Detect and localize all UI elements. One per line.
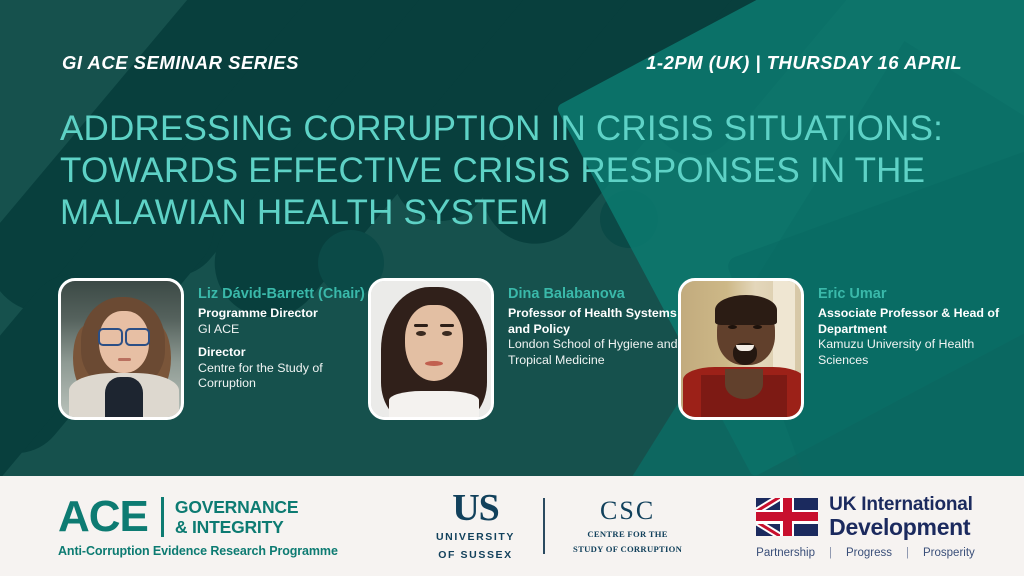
glasses-icon — [98, 328, 150, 342]
footer-logo-bar: ACE GOVERNANCE & INTEGRITY Anti-Corrupti… — [0, 476, 1024, 576]
speaker-org-1: London School of Hygiene and Tropical Me… — [508, 337, 678, 368]
csc-name-line-2: STUDY OF CORRUPTION — [573, 544, 682, 555]
ukid-tag-prosperity: Prosperity — [923, 547, 975, 559]
speaker-photo-eric-umar — [678, 278, 804, 420]
csc-wordmark: CSC — [573, 497, 682, 525]
seminar-poster: GI ACE SEMINAR SERIES 1-2PM (UK) | THURS… — [0, 0, 1024, 576]
ace-divider — [161, 497, 164, 537]
ukid-tagline: Partnership | Progress | Prosperity — [756, 547, 975, 559]
union-jack-flag-icon — [756, 498, 818, 536]
speaker-details: Liz Dávid-Barrett (Chair) Programme Dire… — [198, 278, 368, 392]
speaker-photo-dina-balabanova — [368, 278, 494, 420]
title-line-2: TOWARDS EFFECTIVE CRISIS RESPONSES IN TH… — [60, 150, 970, 192]
logo-divider — [543, 498, 545, 554]
sussex-name-line-1: UNIVERSITY — [436, 531, 515, 544]
title-line-1: ADDRESSING CORRUPTION IN CRISIS SITUATIO… — [60, 108, 970, 150]
speaker-role-1: Professor of Health Systems and Policy — [508, 306, 678, 337]
ukid-line-1: UK International — [829, 494, 973, 515]
ukid-tag-separator-1: | — [829, 547, 832, 559]
speaker-details: Dina Balabanova Professor of Health Syst… — [508, 278, 678, 368]
csc-logo: CSC CENTRE FOR THE STUDY OF CORRUPTION — [573, 497, 682, 555]
uk-international-development-logo: UK International Development Partnership… — [756, 494, 975, 559]
ukid-tag-separator-2: | — [906, 547, 909, 559]
speaker-role-2: Director — [198, 345, 368, 361]
page-title: ADDRESSING CORRUPTION IN CRISIS SITUATIO… — [60, 108, 970, 234]
ukid-line-2: Development — [829, 515, 973, 540]
ace-sub-line-2: & INTEGRITY — [175, 517, 298, 537]
speaker-details: Eric Umar Associate Professor & Head of … — [818, 278, 1008, 368]
datetime-label: 1-2PM (UK) | THURSDAY 16 APRIL — [646, 52, 962, 74]
speaker-photo-liz-david-barrett — [58, 278, 184, 420]
speaker-list: Liz Dávid-Barrett (Chair) Programme Dire… — [58, 278, 1008, 420]
ace-sub-line-1: GOVERNANCE — [175, 497, 298, 517]
speaker-name: Liz Dávid-Barrett (Chair) — [198, 286, 368, 303]
sussex-wordmark: US — [436, 490, 515, 526]
speaker-role-1: Programme Director — [198, 306, 368, 322]
ukid-tag-partnership: Partnership — [756, 547, 815, 559]
speaker-name: Eric Umar — [818, 286, 1008, 303]
speaker-card: Eric Umar Associate Professor & Head of … — [678, 278, 1008, 420]
speaker-org-1: Kamuzu University of Health Sciences — [818, 337, 1008, 368]
speaker-org-1: GI ACE — [198, 322, 368, 338]
ace-logo: ACE GOVERNANCE & INTEGRITY Anti-Corrupti… — [58, 495, 358, 558]
speaker-card: Dina Balabanova Professor of Health Syst… — [368, 278, 678, 420]
university-of-sussex-logo: US UNIVERSITY OF SUSSEX — [436, 490, 515, 562]
speaker-org-2: Centre for the Study of Corruption — [198, 361, 368, 392]
ace-wordmark: ACE — [58, 495, 148, 539]
speaker-role-1: Associate Professor & Head of Department — [818, 306, 1008, 337]
series-label: GI ACE SEMINAR SERIES — [62, 52, 299, 74]
ukid-tag-progress: Progress — [846, 547, 892, 559]
speaker-name: Dina Balabanova — [508, 286, 678, 303]
sussex-csc-logos: US UNIVERSITY OF SUSSEX CSC CENTRE FOR T… — [436, 490, 682, 562]
header-eyebrow-row: GI ACE SEMINAR SERIES 1-2PM (UK) | THURS… — [62, 52, 962, 74]
sussex-name-line-2: OF SUSSEX — [436, 549, 515, 562]
ace-tagline: Anti-Corruption Evidence Research Progra… — [58, 544, 358, 558]
csc-name-line-1: CENTRE FOR THE — [573, 529, 682, 540]
speaker-card: Liz Dávid-Barrett (Chair) Programme Dire… — [58, 278, 368, 420]
title-line-3: MALAWIAN HEALTH SYSTEM — [60, 192, 970, 234]
